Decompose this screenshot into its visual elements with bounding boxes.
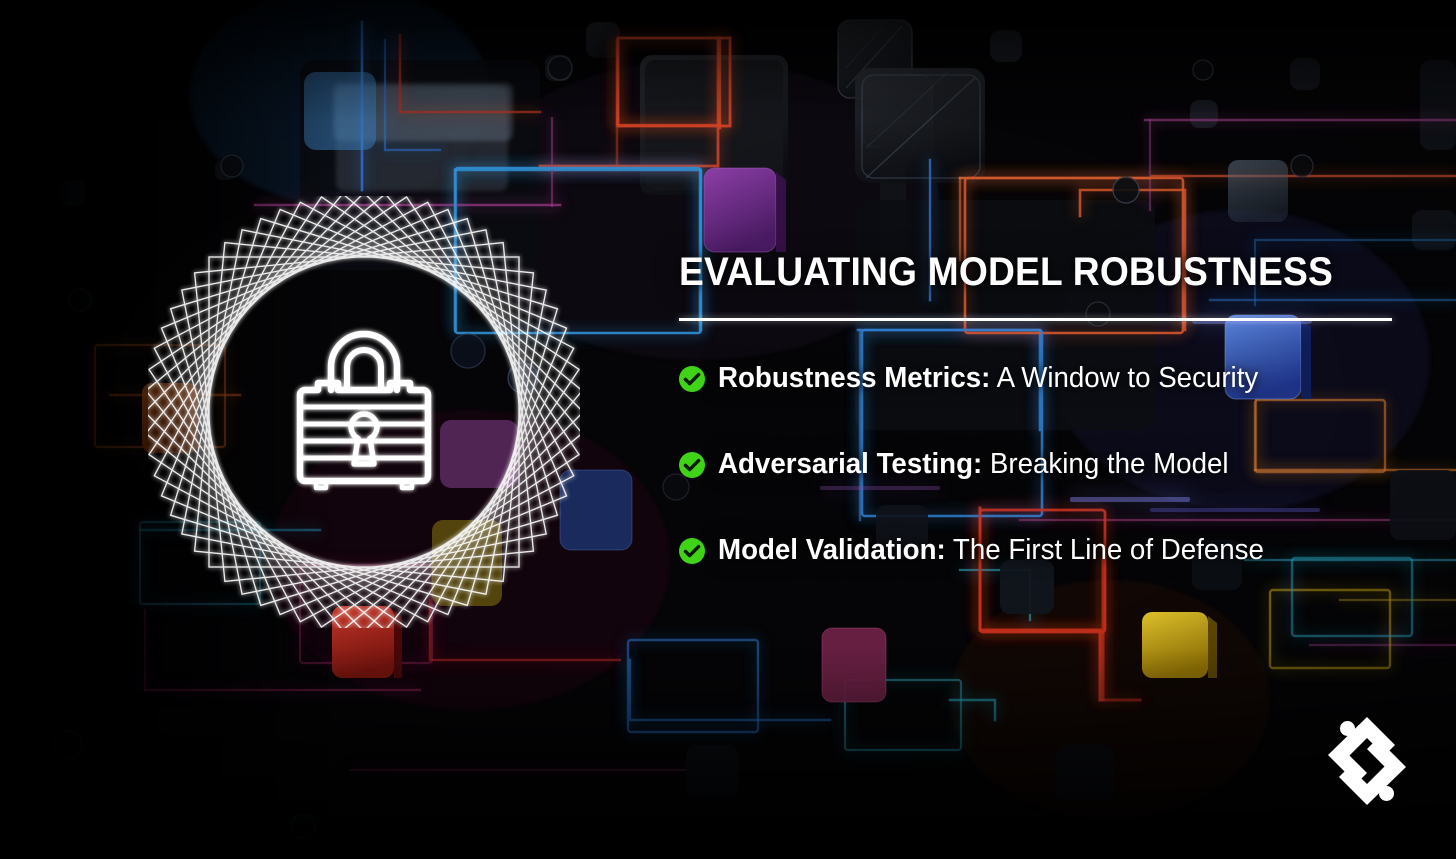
- page-title: EVALUATING MODEL ROBUSTNESS: [679, 252, 1358, 294]
- title-divider: [679, 318, 1392, 321]
- list-item-text: Robustness Metrics: A Window to Security: [718, 364, 1258, 393]
- list-item-label: Adversarial Testing:: [718, 448, 982, 480]
- list-item-detail: A Window to Security: [990, 362, 1258, 394]
- check-circle-icon: [679, 366, 705, 392]
- list-item-label: Robustness Metrics:: [718, 362, 990, 394]
- list-item: Robustness Metrics: A Window to Security: [679, 358, 1409, 400]
- list-item-detail: The First Line of Defense: [946, 534, 1264, 566]
- bullet-list: Robustness Metrics: A Window to Security…: [679, 358, 1409, 572]
- list-item: Adversarial Testing: Breaking the Model: [679, 444, 1409, 486]
- list-item: Model Validation: The First Line of Defe…: [679, 530, 1409, 572]
- check-circle-icon: [679, 538, 705, 564]
- slide-canvas: EVALUATING MODEL ROBUSTNESS Robustness M…: [0, 0, 1456, 859]
- stylized-s-logo: [1325, 713, 1409, 809]
- check-circle-icon: [679, 452, 705, 478]
- content-panel: EVALUATING MODEL ROBUSTNESS Robustness M…: [679, 252, 1409, 572]
- list-item-label: Model Validation:: [718, 534, 946, 566]
- list-item-text: Adversarial Testing: Breaking the Model: [718, 450, 1229, 479]
- list-item-text: Model Validation: The First Line of Defe…: [718, 536, 1264, 565]
- list-item-detail: Breaking the Model: [982, 448, 1228, 480]
- security-emblem: [148, 196, 580, 628]
- padlock-icon: [300, 334, 428, 488]
